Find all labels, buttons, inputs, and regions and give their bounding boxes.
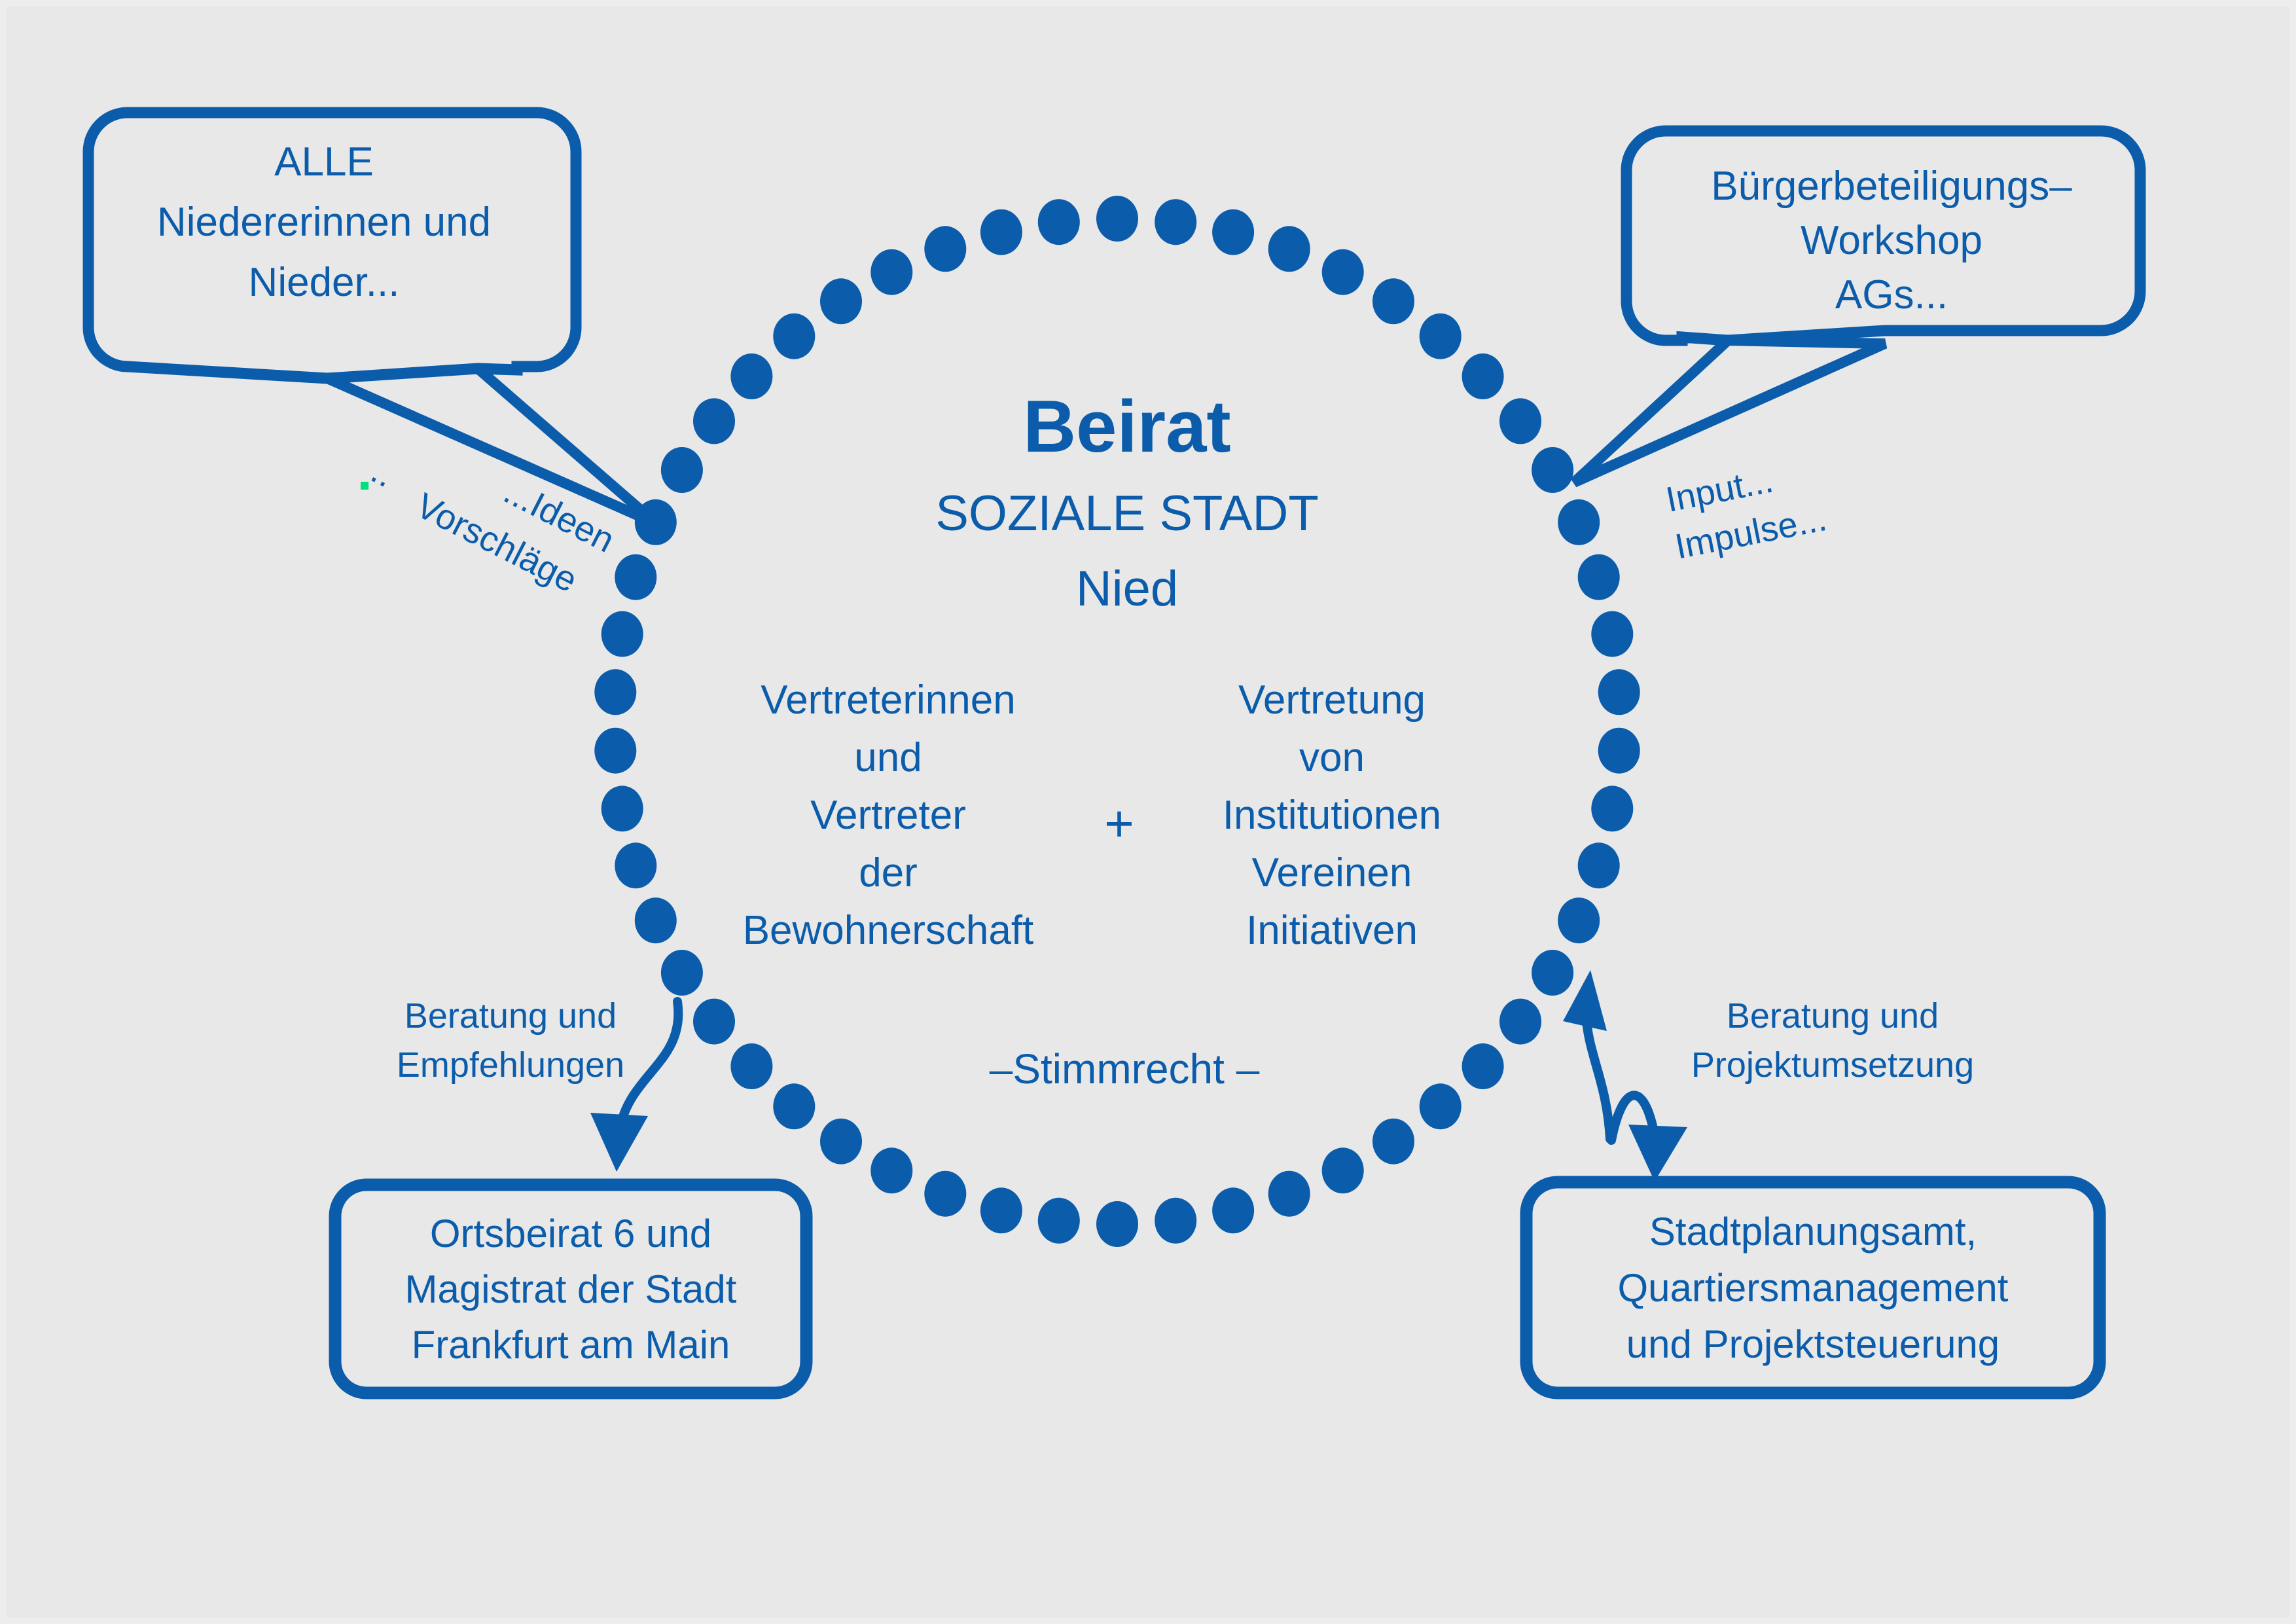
box-bottom-right-line-3: und Projektsteuerung: [1626, 1322, 2000, 1366]
box-bottom-right-line-2: Quartiersmanagement: [1618, 1266, 2009, 1310]
box-bottom-left[interactable]: Ortsbeirat 6 und Magistrat der Stadt Fra…: [335, 1185, 806, 1393]
box-bottom-right-line-1: Stadtplanungsamt,: [1649, 1210, 1977, 1254]
diagram-canvas: ALLE Niedererinnen und Nieder... Bürgerb…: [0, 0, 2296, 1624]
box-bottom-left-line-3: Frankfurt am Main: [412, 1323, 730, 1367]
box-bottom-right[interactable]: Stadtplanungsamt, Quartiersmanagement un…: [1526, 1182, 2100, 1393]
box-bottom-left-line-1: Ortsbeirat 6 und: [430, 1212, 711, 1255]
box-bottom-left-line-2: Magistrat der Stadt: [405, 1267, 737, 1311]
boxes-layer: Ortsbeirat 6 und Magistrat der Stadt Fra…: [0, 0, 2296, 1624]
